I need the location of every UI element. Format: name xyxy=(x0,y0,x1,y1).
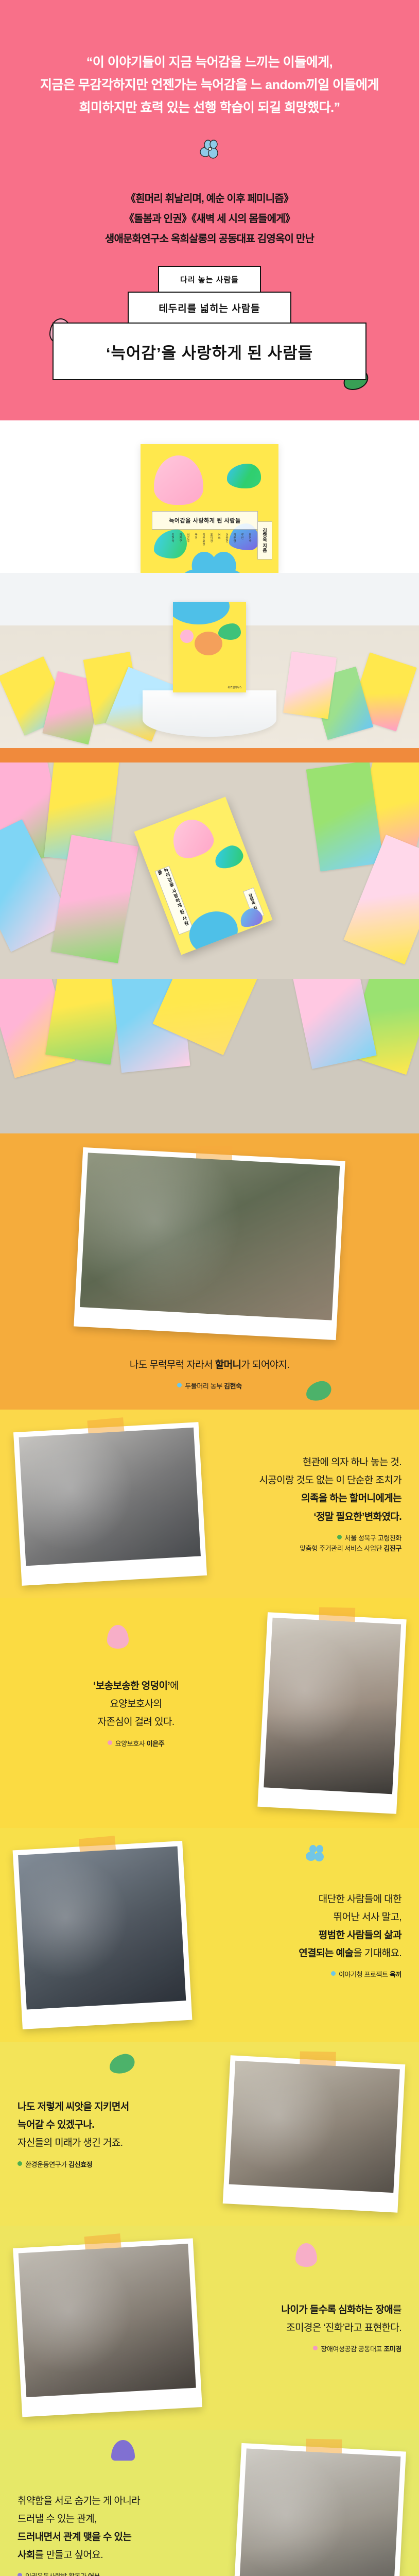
publisher-mark: 위즈덤하우스 xyxy=(228,686,242,689)
title-box-2: 테두리를 넓히는 사람들 xyxy=(128,292,291,324)
contributor-name: 김윤영 xyxy=(232,533,236,546)
polaroid-frame xyxy=(13,1422,207,1586)
interview-photo-5 xyxy=(229,2061,400,2193)
quote-fragment: 가 되어야지. xyxy=(241,1360,289,1370)
quote-line-bold: 늑어갈 수 있겠구나. xyxy=(18,2116,218,2134)
citation-role: 이야기청 프로젝트 xyxy=(339,1971,390,1978)
quote-line: 나이가 들수록 심화하는 장애를 xyxy=(206,2301,401,2319)
book-cover-illustration: 늑어감을 사랑하게 된 사람들 김현숙 김진구 이은주 육끼 김신효정 조미경 … xyxy=(141,444,278,573)
quote-fragment: 을 기대해요. xyxy=(353,1948,401,1959)
book-promo-page: “이 이야기들이 지금 늑어감을 느끼는 이들에게, 지금은 무감각하지만 언젠… xyxy=(0,0,419,2576)
hero-quote-line-3: 희미하지만 효력 있는 선행 학습이 되길 희망했다.” xyxy=(21,97,398,120)
contributor-name: 조미경 xyxy=(209,533,213,546)
interview-photo-2 xyxy=(19,1428,201,1566)
interview-photo-1 xyxy=(80,1153,340,1320)
title-stack-section: 다리 놓는 사람들 테두리를 넓히는 사람들 ‘늑어감’을 사랑하게 된 사람들 xyxy=(0,255,419,420)
quote-line-bold: 평범한 사람들의 삶과 xyxy=(196,1926,401,1944)
quote-line: 조미경은 ‘진화’라고 표현한다. xyxy=(206,2319,401,2337)
books-display-photo-3 xyxy=(0,979,419,1133)
citation-name: 육끼 xyxy=(390,1971,401,1978)
featured-book-back-cover: 위즈덤하우스 xyxy=(173,602,246,692)
hero-quote-line-2: 지금은 무감각하지만 언젠가는 늑어감을 느 andom끼일 이들에게 xyxy=(21,74,398,97)
quote-citation-7: 인권운동사랑방 활동가 어쓰 xyxy=(18,2571,229,2576)
hero-section: “이 이야기들이 지금 늑어감을 느끼는 이들에게, 지금은 무감각하지만 언젠… xyxy=(0,0,419,160)
quote-line: 자신들의 미래가 생긴 거죠. xyxy=(18,2134,218,2152)
quote-fragment-bold: 연결되는 예술 xyxy=(299,1948,353,1959)
quote-section-7: 취약함을 서로 숨기는 게 아니라 드러낼 수 있는 관계, 드러내면서 관계 … xyxy=(0,2430,419,2576)
title-box-3: ‘늑어감’을 사랑하게 된 사람들 xyxy=(53,323,366,380)
quote-fragment-bold: 나이가 들수록 심화하는 장애 xyxy=(282,2304,393,2315)
citation-role: 환경운동연구가 xyxy=(25,2161,68,2168)
cover-pink-heart-icon xyxy=(167,814,218,863)
quote-line: 연결되는 예술을 기대해요. xyxy=(196,1944,401,1962)
cover-green-blob-icon xyxy=(227,464,261,488)
quote-line: 대단한 사람들에 대한 xyxy=(196,1890,401,1908)
quote-section-1: 나도 무럭무럭 자라서 할머니가 되어야지. 두물머리 농부 김현숙 xyxy=(0,1133,419,1410)
interview-photo-7 xyxy=(238,2449,400,2576)
bullet-dot-icon xyxy=(108,1740,112,1745)
display-podium xyxy=(143,690,276,737)
orange-divider-band xyxy=(0,748,419,762)
quote-line: ‘보송보송한 엉덩이’에 xyxy=(18,1677,254,1695)
quote-line-bold: 나도 저렇게 씨앗을 지키면서 xyxy=(18,2098,218,2116)
quote-line: 사회를 만들고 싶어요. xyxy=(18,2546,229,2564)
quote-fragment-bold: 할머니 xyxy=(215,1360,241,1370)
scattered-book xyxy=(283,652,337,719)
polaroid-frame xyxy=(257,1612,406,1814)
quote-line: 드러낼 수 있는 관계, xyxy=(18,2510,229,2528)
contributor-name: 김신효정 xyxy=(201,533,205,546)
cover-title: 늑어감을 사랑하게 된 사람들 xyxy=(152,511,258,530)
citation-name: 어쓰 xyxy=(88,2572,100,2576)
polaroid-frame xyxy=(232,2443,406,2576)
bullet-dot-icon xyxy=(313,2346,318,2350)
quote-section-4: 대단한 사람들에 대한 뛰어난 서사 말고, 평범한 사람들의 삶과 연결되는 … xyxy=(0,1828,419,2042)
blurb-section: 《흰머리 휘날리며, 예순 이후 페미니즘》 《돌봄과 인권》《새벽 세 시의 … xyxy=(0,160,419,255)
blue-flower-icon xyxy=(198,137,221,160)
quote-line-bold: 드러내면서 관계 맺을 수 있는 xyxy=(18,2528,229,2546)
cover-title: 늑어감을 사랑하게 된 사람들 xyxy=(155,866,194,935)
polaroid-frame xyxy=(13,2239,202,2417)
interview-photo-3 xyxy=(264,1618,401,1794)
polaroid-frame xyxy=(13,1841,193,2029)
books-display-photo-2: 늑어감을 사랑하게 된 사람들 김영옥 지음 xyxy=(0,762,419,979)
quote-citation-2: 서울 성북구 고령친화 맞춤형 주거관리 서비스 사업단 김진구 xyxy=(211,1533,401,1555)
quote-line-bold: 의족을 하는 할머니에게는 xyxy=(211,1489,401,1507)
contributor-name: 어쓰 xyxy=(217,533,221,546)
citation-role: 두물머리 농부 xyxy=(185,1382,224,1390)
quote-citation-1: 두물머리 농부 김현숙 xyxy=(130,1381,289,1392)
cover-pink-heart-icon xyxy=(154,455,203,505)
quote-fragment: 를 만들고 싶어요. xyxy=(35,2550,103,2561)
cover-green-blob-icon xyxy=(212,842,246,872)
quote-fragment: 에 xyxy=(170,1681,179,1691)
citation-role: 인권운동사랑방 활동가 xyxy=(25,2572,88,2576)
quote-fragment-bold: 사회 xyxy=(18,2550,35,2561)
polaroid-frame xyxy=(223,2055,406,2212)
blurb-line-2: 《돌봄과 인권》《새벽 세 시의 몸들에게》 xyxy=(15,209,404,229)
cover-photo-section: 늑어감을 사랑하게 된 사람들 김현숙 김진구 이은주 육끼 김신효정 조미경 … xyxy=(0,420,419,573)
blue-flower-icon xyxy=(305,1843,326,1863)
cover-contributor-names: 김현숙 김진구 이은주 육끼 김신효정 조미경 어쓰 이동현 김윤영 루인 최현… xyxy=(150,533,269,546)
quote-line-bold: ‘정말 필요한’변화였다. xyxy=(211,1508,401,1526)
hero-quote-line-1: “이 이야기들이 지금 늑어감을 느끼는 이들에게, xyxy=(21,52,398,74)
citation-role-2: 맞춤형 주거관리 서비스 사업단 xyxy=(300,1545,383,1552)
citation-role: 서울 성북구 고령친화 xyxy=(345,1534,401,1542)
blurb-line-1: 《흰머리 휘날리며, 예순 이후 페미니즘》 xyxy=(15,189,404,209)
contributor-name: 김현숙 xyxy=(170,533,174,546)
citation-name: 김신효정 xyxy=(68,2161,92,2168)
contributor-name: 최현숙 xyxy=(248,533,252,546)
cover-author: 김영옥 지음 xyxy=(257,521,272,560)
quote-line: 뛰어난 서사 말고, xyxy=(196,1908,401,1926)
title-box-1: 다리 놓는 사람들 xyxy=(158,266,261,293)
quote-citation-4: 이야기청 프로젝트 육끼 xyxy=(196,1970,401,1980)
quote-section-6: 나이가 들수록 심화하는 장애를 조미경은 ‘진화’라고 표현한다. 장애여성공… xyxy=(0,2226,419,2430)
bullet-dot-icon xyxy=(18,2573,22,2576)
quote-citation-6: 장애여성공감 공동대표 조미경 xyxy=(206,2344,401,2355)
hero-quote: “이 이야기들이 지금 늑어감을 느끼는 이들에게, 지금은 무감각하지만 언젠… xyxy=(21,52,398,119)
books-display-photo-1: 위즈덤하우스 xyxy=(0,573,419,748)
quote-line: 현관에 의자 하나 놓는 것. xyxy=(211,1453,401,1471)
quote-line: 자존심이 걸려 있다. xyxy=(18,1713,254,1731)
blurb-line-3: 생애문화연구소 옥희살롱의 공동대표 김영옥이 만난 xyxy=(15,229,404,249)
contributor-name: 육끼 xyxy=(194,533,198,546)
quote-section-3: ‘보송보송한 엉덩이’에 요양보호사의 자존심이 걸려 있다. 요양보호사 이은… xyxy=(0,1598,419,1828)
bullet-dot-icon xyxy=(18,2161,22,2166)
citation-name: 이은주 xyxy=(147,1740,165,1748)
citation-name: 조미경 xyxy=(383,2345,401,2353)
quote-section-2: 현관에 의자 하나 놓는 것. 시공이랑 것도 없는 이 단순한 조치가 의족을… xyxy=(0,1410,419,1598)
quote-citation-3: 요양보호사 이은주 xyxy=(18,1739,254,1750)
contributor-name: 김진구 xyxy=(178,533,182,546)
bullet-dot-icon xyxy=(331,1971,336,1976)
contributor-name: 이동현 xyxy=(224,533,229,546)
citation-name: 김진구 xyxy=(383,1545,401,1552)
scattered-book xyxy=(288,979,376,1069)
bullet-dot-icon xyxy=(177,1383,182,1387)
quote-citation-5: 환경운동연구가 김신효정 xyxy=(18,2160,218,2171)
bullet-dot-icon xyxy=(337,1535,342,1539)
interview-photo-4 xyxy=(18,1846,186,2010)
citation-role: 요양보호사 xyxy=(115,1740,147,1748)
quote-fragment-bold: ‘보송보송한 엉덩이’ xyxy=(93,1681,170,1691)
quote-fragment: 를 xyxy=(393,2304,401,2315)
quote-section-5: 나도 저렇게 씨앗을 지키면서 늑어갈 수 있겠구나. 자신들의 미래가 생긴 … xyxy=(0,2042,419,2226)
quote-line: 취약함을 서로 숨기는 게 아니라 xyxy=(18,2492,229,2510)
quote-line: 요양보호사의 xyxy=(18,1695,254,1713)
polaroid-frame xyxy=(74,1147,345,1340)
interview-photo-6 xyxy=(19,2244,196,2397)
quote-line: 시공이랑 것도 없는 이 단순한 조치가 xyxy=(211,1471,401,1489)
quote-fragment: 나도 무럭무럭 자라서 xyxy=(130,1360,215,1370)
citation-role: 장애여성공감 공동대표 xyxy=(321,2345,383,2353)
citation-name: 김현숙 xyxy=(224,1382,242,1390)
quote-text-1: 나도 무럭무럭 자라서 할머니가 되어야지. xyxy=(130,1356,289,1374)
contributor-name: 루인 xyxy=(240,533,244,546)
featured-book-front-cover: 늑어감을 사랑하게 된 사람들 김영옥 지음 xyxy=(134,797,272,955)
contributor-name: 이은주 xyxy=(186,533,190,546)
